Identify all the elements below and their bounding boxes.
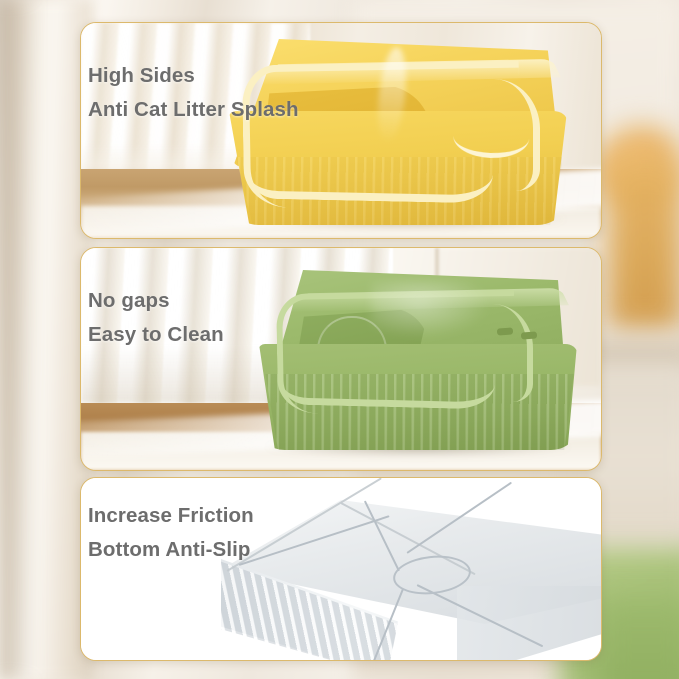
caption-line: High Sides <box>88 62 299 89</box>
litter-box-underside <box>221 500 602 661</box>
caption-high-sides: High Sides Anti Cat Litter Splash <box>88 62 299 123</box>
background-green-accent-2 <box>598 600 679 679</box>
underside-far-side <box>457 586 602 661</box>
green-litter-box <box>259 270 579 450</box>
background-vase-blur <box>608 160 679 330</box>
product-infographic: High Sides Anti Cat Litter Splash <box>0 0 679 679</box>
caption-line: Increase Friction <box>88 502 254 529</box>
caption-line: No gaps <box>88 287 224 314</box>
scene-yellow-litter-box <box>81 23 601 238</box>
scene-green-litter-box <box>81 248 601 470</box>
feature-panel-high-sides <box>80 22 602 239</box>
caption-anti-slip: Increase Friction Bottom Anti-Slip <box>88 502 254 563</box>
green-box-highlight <box>371 280 491 338</box>
green-box-notch <box>521 331 537 339</box>
caption-line: Easy to Clean <box>88 321 224 348</box>
feature-panel-no-gaps <box>80 247 602 471</box>
green-box-notch <box>497 327 513 335</box>
caption-no-gaps: No gaps Easy to Clean <box>88 287 224 348</box>
caption-line: Anti Cat Litter Splash <box>88 96 299 123</box>
caption-line: Bottom Anti-Slip <box>88 536 254 563</box>
background-left-shadow <box>0 0 36 679</box>
